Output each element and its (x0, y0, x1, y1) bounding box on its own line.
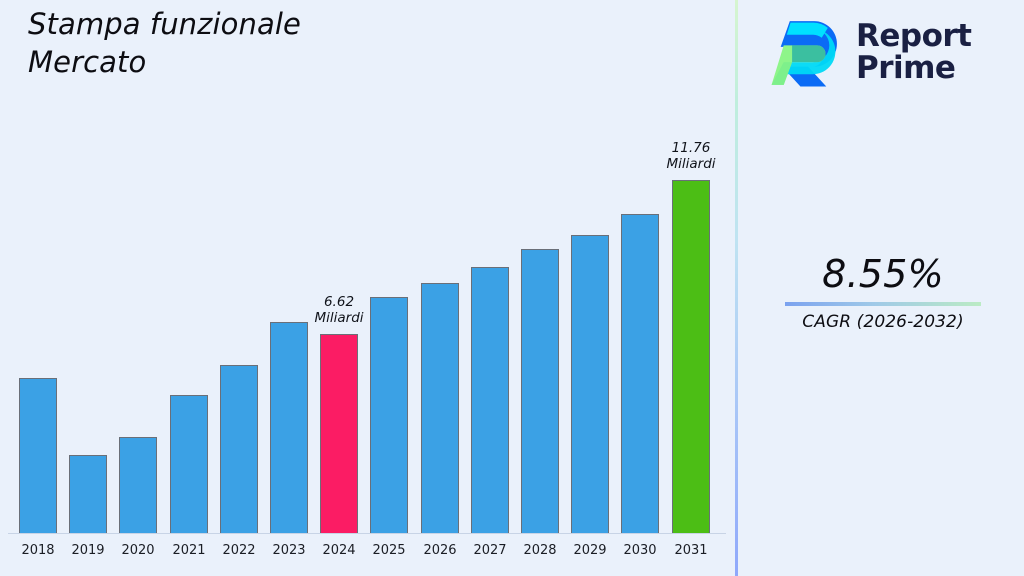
bar-2022 (220, 365, 258, 533)
x-tick-2022: 2022 (212, 543, 266, 558)
bar-chart-plot-area: 2018201920202021202220232024202520262027… (0, 0, 735, 576)
cagr-divider-rule (785, 302, 981, 306)
x-tick-2018: 2018 (11, 543, 65, 558)
bar-2025 (370, 297, 408, 533)
brand-wordmark: Report Prime (856, 21, 972, 84)
x-tick-2026: 2026 (413, 543, 467, 558)
brand-logo: Report Prime (766, 10, 1006, 96)
bar-2029 (571, 235, 609, 533)
x-tick-2029: 2029 (563, 543, 617, 558)
bar-2018 (19, 378, 57, 533)
x-tick-2019: 2019 (61, 543, 115, 558)
report-prime-logo-mark-icon (766, 15, 844, 91)
bar-2024 (320, 334, 358, 533)
bar-2027 (471, 267, 509, 533)
bar-2020 (119, 437, 157, 533)
x-tick-2023: 2023 (262, 543, 316, 558)
x-tick-2030: 2030 (613, 543, 667, 558)
x-tick-2020: 2020 (111, 543, 165, 558)
cagr-caption: CAGR (2026-2032) (768, 312, 998, 332)
x-tick-2028: 2028 (513, 543, 567, 558)
x-tick-2027: 2027 (463, 543, 517, 558)
bar-2021 (170, 395, 208, 533)
bar-2019 (69, 455, 107, 533)
bar-annotation-2031: 11.76 Miliardi (636, 141, 746, 173)
chart-panel: Stampa funzionale Mercato 20182019202020… (0, 0, 735, 576)
x-tick-2025: 2025 (362, 543, 416, 558)
sidebar-panel: Report Prime 8.55% CAGR (2026-2032) (738, 0, 1024, 576)
bar-2028 (521, 249, 559, 533)
x-tick-2031: 2031 (664, 543, 718, 558)
x-axis-line (8, 533, 726, 534)
bar-2026 (421, 283, 459, 533)
infographic-canvas: Stampa funzionale Mercato 20182019202020… (0, 0, 1024, 576)
bar-2031 (672, 180, 710, 533)
cagr-value: 8.55% (768, 252, 998, 297)
bar-2023 (270, 322, 308, 533)
x-tick-2021: 2021 (162, 543, 216, 558)
cagr-block: 8.55% CAGR (2026-2032) (768, 252, 998, 332)
bar-2030 (621, 214, 659, 533)
x-tick-2024: 2024 (312, 543, 366, 558)
